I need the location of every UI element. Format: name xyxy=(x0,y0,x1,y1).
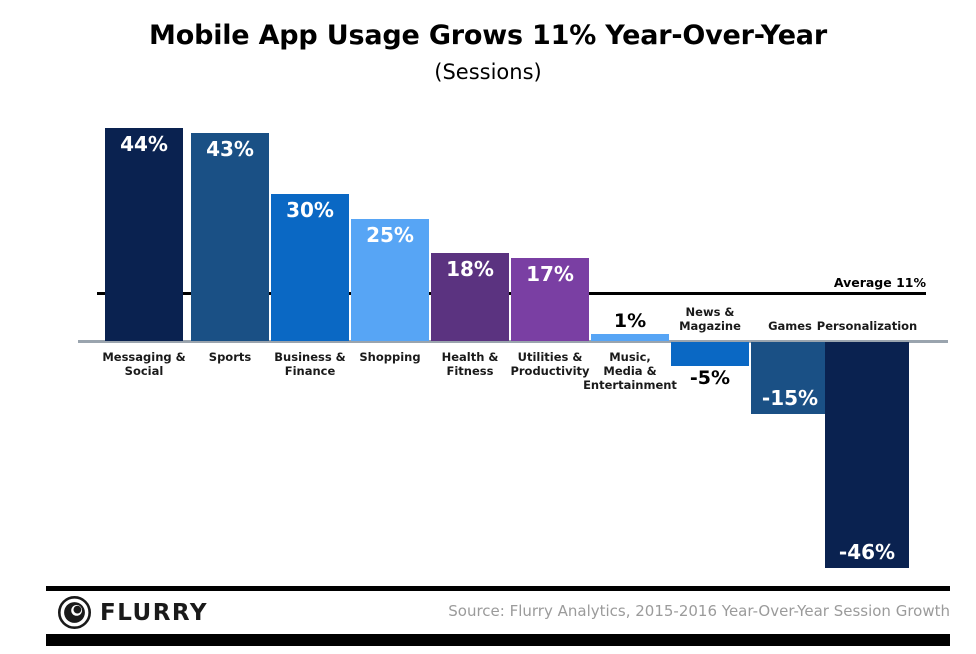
bar-0[interactable]: 44% xyxy=(105,128,183,341)
bar-5[interactable]: 17% xyxy=(511,258,589,341)
bar-7[interactable] xyxy=(671,342,749,366)
category-label-6: Music,Media &Entertainment xyxy=(581,350,679,392)
bar-value-label-8: -15% xyxy=(751,386,829,410)
bar-9[interactable]: -46% xyxy=(825,342,909,568)
bar-1[interactable]: 43% xyxy=(191,133,269,341)
bar-6[interactable] xyxy=(591,334,669,341)
chart-container: Mobile App Usage Grows 11% Year-Over-Yea… xyxy=(0,0,976,654)
bar-4[interactable]: 18% xyxy=(431,253,509,341)
bar-value-label-4: 18% xyxy=(431,257,509,281)
average-line-label: Average 11% xyxy=(834,275,926,290)
bar-value-label-6: 1% xyxy=(591,310,669,332)
bar-value-label-2: 30% xyxy=(271,198,349,222)
footer-divider-top xyxy=(46,586,950,591)
category-label-0: Messaging &Social xyxy=(95,350,193,378)
flurry-logo: FLURRY xyxy=(58,596,208,629)
bar-value-label-7: -5% xyxy=(671,367,749,389)
bar-value-label-9: -46% xyxy=(825,540,909,564)
source-note: Source: Flurry Analytics, 2015-2016 Year… xyxy=(448,602,950,620)
bar-value-label-1: 43% xyxy=(191,137,269,161)
category-label-9: Personalization xyxy=(815,319,919,333)
bar-2[interactable]: 30% xyxy=(271,194,349,341)
flurry-wordmark: FLURRY xyxy=(100,600,208,626)
bar-3[interactable]: 25% xyxy=(351,219,429,341)
bar-value-label-5: 17% xyxy=(511,262,589,286)
footer-divider-bottom xyxy=(46,634,950,646)
bar-8[interactable]: -15% xyxy=(751,342,829,414)
bar-value-label-0: 44% xyxy=(105,132,183,156)
bar-value-label-3: 25% xyxy=(351,223,429,247)
flurry-circle-icon xyxy=(58,596,91,629)
plot-area: Average 11% 44%43%30%25%18%17%1%-5%-15%-… xyxy=(0,0,976,580)
